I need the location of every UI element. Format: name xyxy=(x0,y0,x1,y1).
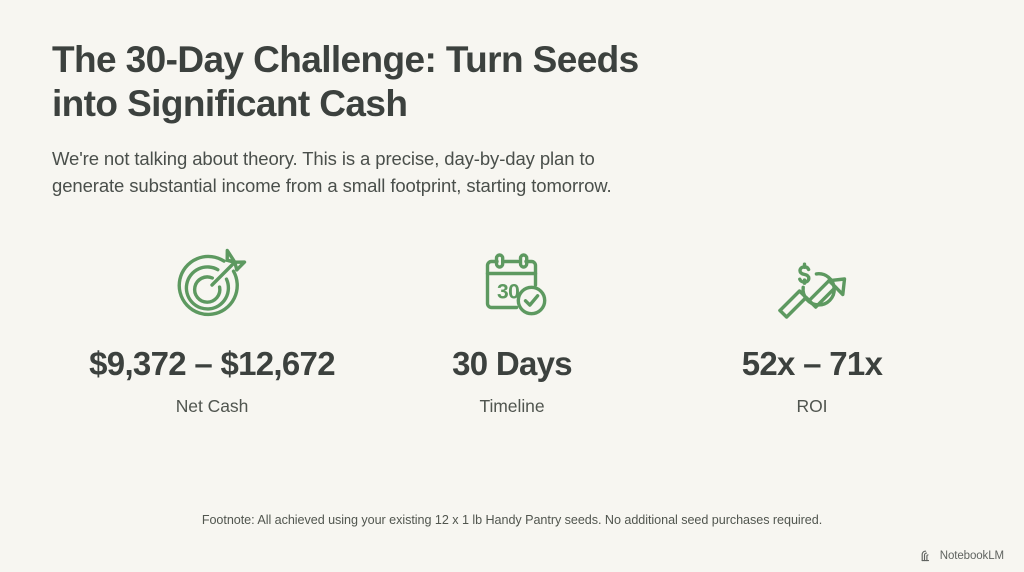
notebooklm-logo-icon xyxy=(921,550,935,562)
svg-text:30: 30 xyxy=(497,281,519,304)
stats-row: $9,372 – $12,672 Net Cash 30 30 Days xyxy=(0,246,1024,417)
target-arrow-icon xyxy=(166,246,258,324)
brand-watermark: NotebookLM xyxy=(921,550,1004,562)
footnote: Footnote: All achieved using your existi… xyxy=(0,513,1024,527)
stat-card-net-cash: $9,372 – $12,672 Net Cash xyxy=(62,246,362,417)
stat-label: ROI xyxy=(797,396,828,417)
stat-value: 30 Days xyxy=(452,346,572,382)
stat-value: 52x – 71x xyxy=(742,346,883,382)
stat-card-roi: 52x – 71x ROI xyxy=(662,246,962,417)
stat-card-timeline: 30 30 Days Timeline xyxy=(362,246,662,417)
slide-subtitle: We're not talking about theory. This is … xyxy=(52,146,812,200)
slide-header: The 30-Day Challenge: Turn Seeds into Si… xyxy=(52,38,812,200)
slide-canvas: The 30-Day Challenge: Turn Seeds into Si… xyxy=(0,0,1024,572)
calendar-30-check-icon: 30 xyxy=(466,246,558,324)
stat-label: Timeline xyxy=(479,396,544,417)
stat-value: $9,372 – $12,672 xyxy=(89,346,335,382)
stat-label: Net Cash xyxy=(176,396,249,417)
brand-name: NotebookLM xyxy=(940,550,1004,562)
dollar-growth-arrow-icon xyxy=(766,246,858,324)
page-title: The 30-Day Challenge: Turn Seeds into Si… xyxy=(52,38,812,125)
